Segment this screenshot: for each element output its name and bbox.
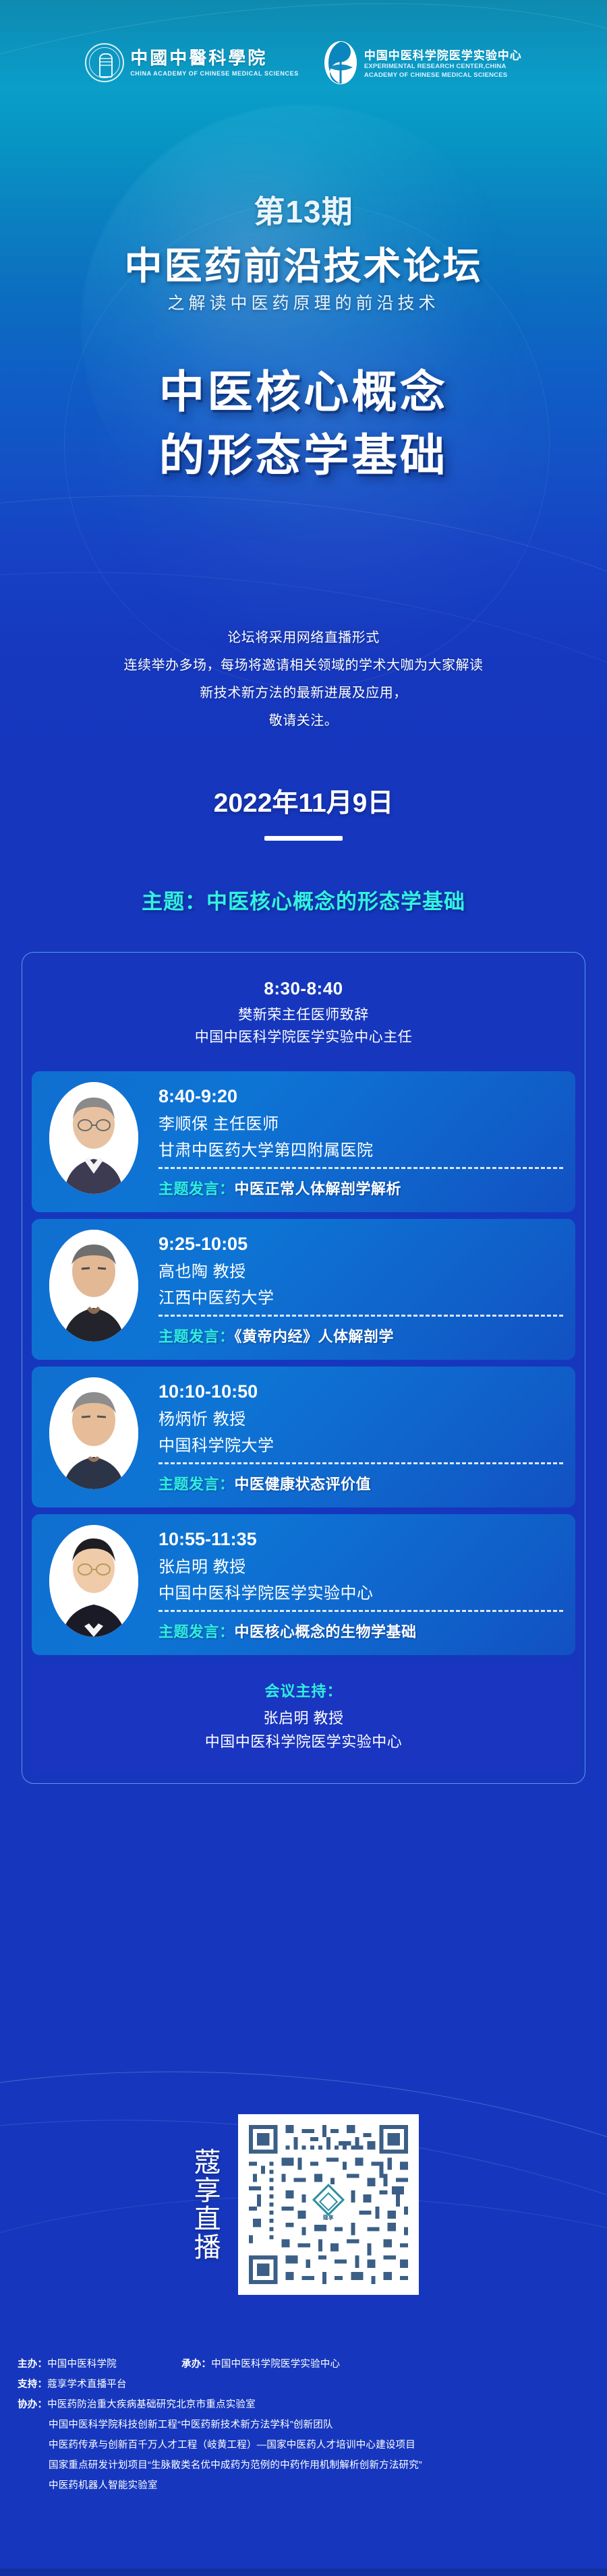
logo-experimental-center: 中国中医科学院医学实验中心 EXPERIMENTAL RESEARCH CENT… [323,40,522,85]
co-line-0: 中医药防治重大疾病基础研究北京市重点实验室 [47,2399,256,2410]
talk-org: 中国科学院大学 [158,1432,563,1456]
footer-row-co-1: 中国中医科学院科技创新工程“中医药新技术新方法学科”创新团队 [18,2415,598,2435]
session-host: 会议主持： 张启明 教授 中国中医科学院医学实验中心 [32,1665,575,1771]
co-line-3: 国家重点研发计划项目“生脉散类名优中成药为范例的中药作用机制解析创新方法研究” [49,2460,422,2471]
talk-card: 10:55-11:35 张启明 教授 中国中医科学院医学实验中心 主题发言：中医… [32,1514,575,1655]
opening-remarks: 8:30-8:40 樊新荣主任医师致辞 中国中医科学院医学实验中心主任 [32,963,575,1065]
footer-row-co-0: 协办：中医药防治重大疾病基础研究北京市重点实验室 [18,2395,598,2415]
talk-topic: 主题发言：《黄帝内经》人体解剖学 [158,1325,563,1346]
host-org: 中国中医科学院医学实验中心 [32,1730,575,1754]
co-label: 协办： [18,2399,47,2410]
talk-topic-label: 主题发言： [158,1623,235,1640]
issue-number: 第13期 [0,187,607,232]
talk-topic-text: 中医核心概念的生物学基础 [235,1623,417,1640]
divider-rule [264,836,343,841]
description-line-3: 新技术新方法的最新进展及应用， [0,680,607,707]
talk-topic-text: 《黄帝内经》人体解剖学 [235,1328,395,1345]
logo1-name-cn: 中國中醫科學院 [130,49,299,68]
talk-card: 9:25-10:05 高也陶 教授 江西中医药大学 主题发言：《黄帝内经》人体解… [32,1219,575,1360]
talk-topic-text: 中医健康状态评价值 [235,1476,372,1493]
logo2-name-en-line2: ACADEMY OF CHINESE MEDICAL SCIENCES [364,71,522,80]
co-line-2: 中医药传承与创新百千万人才工程（岐黄工程）—国家中医药人才培训中心建设项目 [49,2440,415,2451]
dashed-divider [158,1167,563,1169]
footer-row-support: 支持：蔻享学术直播平台 [18,2374,598,2395]
talk-time: 10:55-11:35 [158,1529,563,1550]
talk-topic: 主题发言：中医健康状态评价值 [158,1472,563,1494]
support-label: 支持： [18,2379,47,2390]
organizer-name: 中国中医科学院 [47,2359,117,2370]
speaker-photo [49,1377,138,1489]
logo2-name-en-line1: EXPERIMENTAL RESEARCH CENTER,CHINA [364,63,522,71]
undertaker-name: 中国中医科学院医学实验中心 [211,2359,340,2370]
dashed-divider [158,1315,563,1317]
forum-subtitle: 之解读中医药原理的前沿技术 [0,290,607,314]
talk-org: 江西中医药大学 [158,1284,563,1308]
host-label: 会议主持： [32,1679,575,1701]
event-theme: 主题：中医核心概念的形态学基础 [0,885,607,915]
opening-title: 中国中医科学院医学实验中心主任 [32,1027,575,1049]
talk-speaker: 杨炳忻 教授 [158,1406,563,1429]
footer-row-organizers: 主办：中国中医科学院承办：中国中医科学院医学实验中心 [18,2354,598,2374]
co-line-4: 中医药机器人智能实验室 [49,2480,158,2491]
qr-section: 蔻享直播 [0,2114,607,2295]
talk-topic-text: 中医正常人体解剖学解析 [235,1180,402,1197]
event-date: 2022年11月9日 [0,782,607,820]
academy-seal-icon [85,43,124,82]
dashed-divider [158,1462,563,1464]
talk-time: 10:10-10:50 [158,1381,563,1402]
talk-org: 中国中医科学院医学实验中心 [158,1580,563,1603]
footer-row-co-2: 中医药传承与创新百千万人才工程（岐黄工程）—国家中医药人才培训中心建设项目 [18,2435,598,2455]
talk-topic-label: 主题发言： [158,1180,235,1197]
footer-row-co-4: 中医药机器人智能实验室 [18,2476,598,2496]
talk-speaker: 张启明 教授 [158,1553,563,1577]
forum-description: 论坛将采用网络直播形式 连续举办多场，每场将邀请相关领域的学术大咖为大家解读 新… [0,624,607,735]
program-panel: 8:30-8:40 樊新荣主任医师致辞 中国中医科学院医学实验中心主任 8:40… [22,952,585,1784]
speaker-photo [49,1082,138,1194]
talk-topic: 主题发言：中医核心概念的生物学基础 [158,1620,563,1642]
qr-label: 蔻享直播 [188,2148,220,2261]
logo-china-academy: 中國中醫科學院 CHINA ACADEMY OF CHINESE MEDICAL… [85,43,299,82]
kouxiang-diamond-icon [312,2183,345,2215]
talk-card: 10:10-10:50 杨炳忻 教授 中国科学院大学 主题发言：中医健康状态评价… [32,1367,575,1507]
undertaker-label: 承办： [181,2359,211,2370]
description-line-2: 连续举办多场，每场将邀请相关领域的学术大咖为大家解读 [0,652,607,680]
opening-time: 8:30-8:40 [32,978,575,999]
support-name: 蔻享学术直播平台 [47,2379,127,2390]
qr-code-icon[interactable]: 蔻享 [238,2114,419,2295]
description-line-4: 敬请关注。 [0,707,607,735]
talk-org: 甘肃中医药大学第四附属医院 [158,1137,563,1160]
talk-card: 8:40-9:20 李顺保 主任医师 甘肃中医药大学第四附属医院 主题发言：中医… [32,1071,575,1212]
forum-title: 中医药前沿技术论坛 [0,236,607,291]
host-name: 张启明 教授 [32,1706,575,1730]
qr-center-logo: 蔻享 [310,2184,347,2225]
talk-time: 9:25-10:05 [158,1234,563,1255]
organizer-label: 主办： [18,2359,47,2370]
talk-time: 8:40-9:20 [158,1086,563,1107]
talk-topic-label: 主题发言： [158,1476,235,1493]
experimental-center-mark-icon [323,40,358,85]
talk-topic: 主题发言：中医正常人体解剖学解析 [158,1177,563,1199]
logo1-name-en: CHINA ACADEMY OF CHINESE MEDICAL SCIENCE… [130,70,299,77]
logo-bar: 中國中醫科學院 CHINA ACADEMY OF CHINESE MEDICAL… [0,40,607,85]
talk-speaker: 高也陶 教授 [158,1258,563,1282]
swoosh-decoration [0,0,607,219]
footer-row-co-3: 国家重点研发计划项目“生脉散类名优中成药为范例的中药作用机制解析创新方法研究” [18,2455,598,2476]
dashed-divider [158,1610,563,1612]
logo2-name-cn: 中国中医科学院医学实验中心 [364,46,522,63]
co-line-1: 中国中医科学院科技创新工程“中医药新技术新方法学科”创新团队 [49,2420,333,2430]
headline-line-1: 中医核心概念 [0,356,607,421]
opening-speaker: 樊新荣主任医师致辞 [32,1005,575,1027]
speaker-photo [49,1230,138,1342]
speaker-photo [49,1525,138,1637]
headline-line-2: 的形态学基础 [0,419,607,484]
bottom-bar [0,2569,607,2576]
footer-credits: 主办：中国中医科学院承办：中国中医科学院医学实验中心 支持：蔻享学术直播平台 协… [18,2354,598,2496]
talk-speaker: 李顺保 主任医师 [158,1110,563,1134]
talk-topic-label: 主题发言： [158,1328,235,1345]
conference-poster: 中國中醫科學院 CHINA ACADEMY OF CHINESE MEDICAL… [0,0,607,2576]
description-line-1: 论坛将采用网络直播形式 [0,624,607,652]
